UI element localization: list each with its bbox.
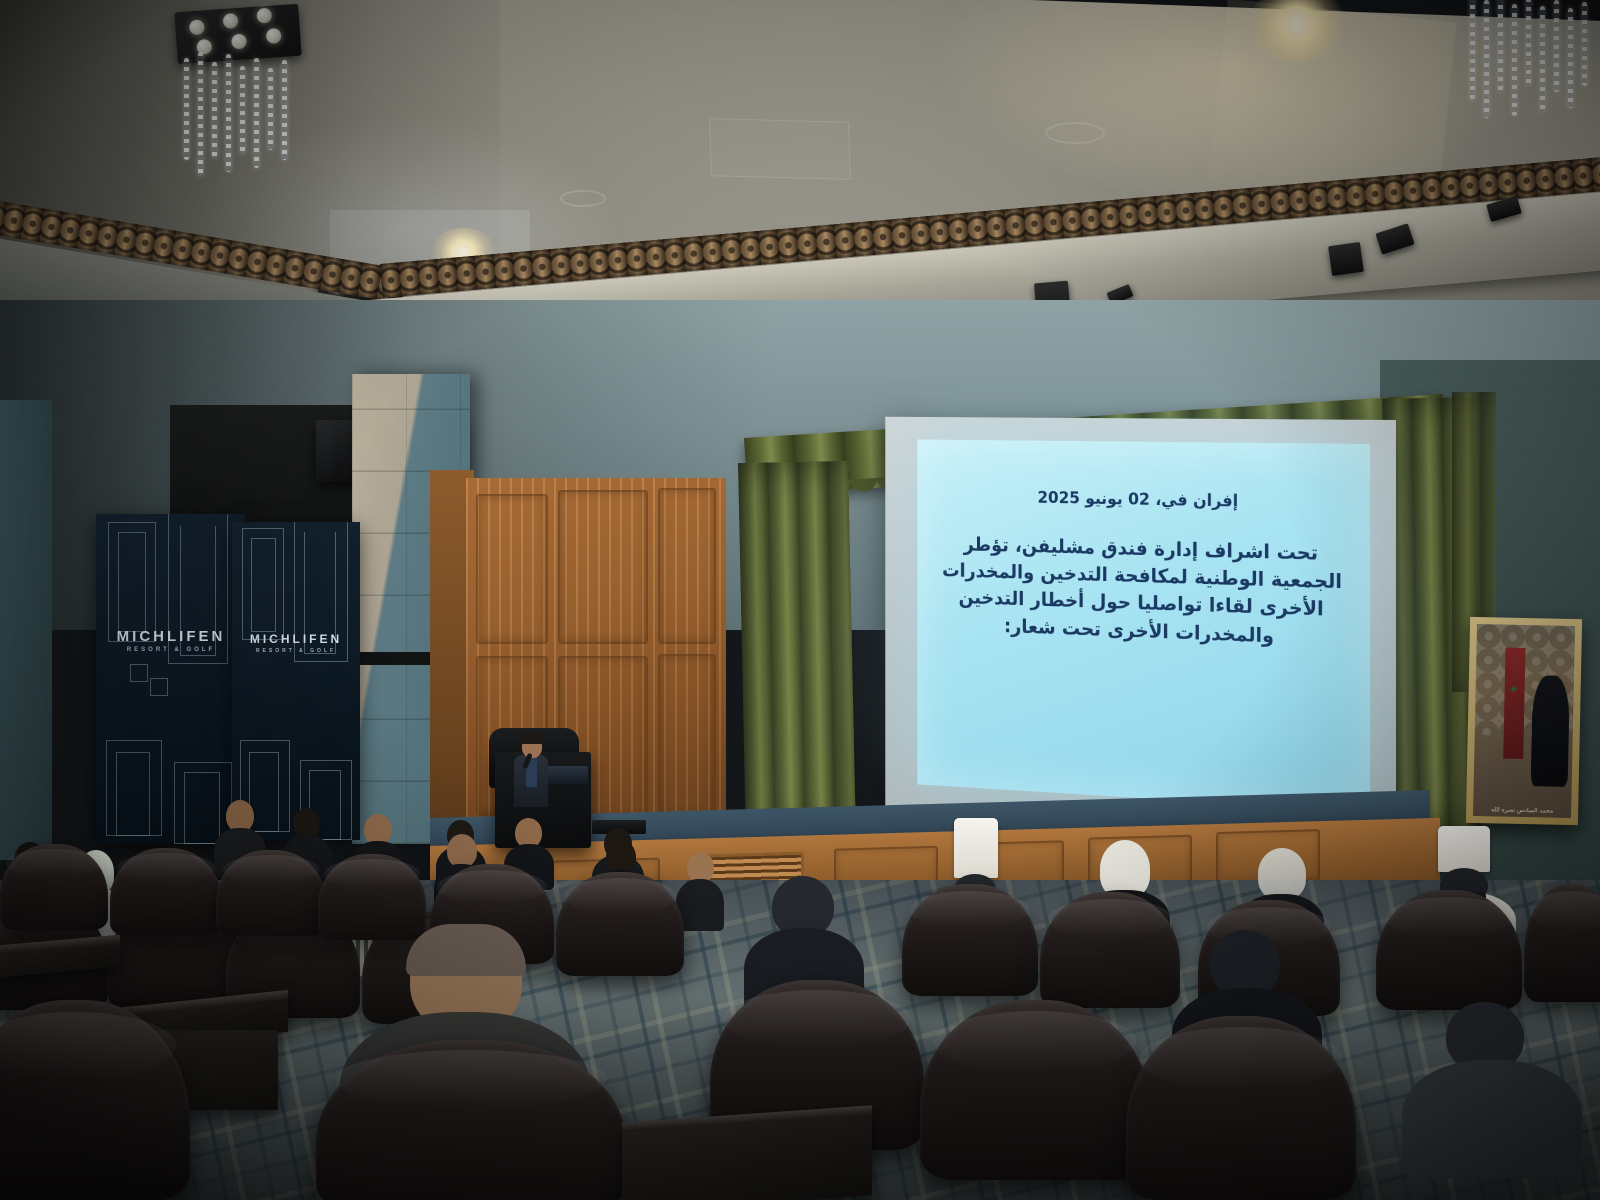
portrait-caption: محمد السادس نصره الله: [1473, 806, 1571, 815]
audience-chair: [1376, 890, 1522, 1010]
audience-chair: [920, 1000, 1150, 1180]
stage-spotlight: [1328, 242, 1364, 276]
audience-chair: [1126, 1016, 1356, 1200]
hairnet-icon: [1258, 848, 1306, 900]
banner-logo-right: MICHLIFEN RESORT & GOLF: [232, 632, 360, 654]
audience-chair: [1524, 884, 1600, 1002]
audience-chair: [0, 844, 108, 930]
side-table: [622, 1105, 872, 1200]
audience-chair-foreground: [316, 1040, 626, 1200]
audience-chair: [902, 884, 1038, 996]
moroccan-flag-icon: [1504, 648, 1526, 760]
projection-screen: إفران في، 02 يونيو 2025 تحت اشراف إدارة …: [917, 439, 1370, 812]
audience-member: [676, 852, 724, 924]
michlifen-banner-right: MICHLIFEN RESORT & GOLF: [232, 522, 360, 840]
stone-column: [0, 400, 52, 860]
stage-curtain-left: [738, 461, 856, 841]
chef-hat-icon: [1438, 826, 1490, 872]
royal-portrait-image: ✦ محمد السادس نصره الله: [1473, 624, 1575, 818]
crystal-chandelier: [178, 52, 298, 182]
slide-date-line: إفران في، 02 يونيو 2025: [940, 485, 1345, 517]
audience-chair: [216, 850, 326, 936]
royal-portrait-frame: ✦ محمد السادس نصره الله: [1466, 617, 1582, 825]
slide-content: إفران في، 02 يونيو 2025 تحت اشراف إدارة …: [917, 439, 1370, 812]
pentagram-star-icon: ✦: [1508, 682, 1521, 695]
audience-member: [1402, 1002, 1582, 1172]
audience-chair: [1040, 892, 1180, 1008]
chef-hat-icon: [954, 818, 998, 878]
banner-logo-left: MICHLIFEN RESORT & GOLF: [96, 628, 246, 653]
audience-chair: [110, 848, 222, 936]
smoke-detector-icon: [560, 190, 606, 207]
conference-hall-photo: إفران في، 02 يونيو 2025 تحت اشراف إدارة …: [0, 0, 1600, 1200]
ceiling-access-hatch: [709, 118, 850, 180]
audience-chair-foreground: [0, 1000, 190, 1200]
michlifen-banner-left: MICHLIFEN RESORT & GOLF: [96, 514, 246, 844]
presenter: [514, 735, 548, 805]
crystal-chandelier: [1466, 0, 1596, 126]
smoke-detector-icon: [1045, 122, 1105, 144]
